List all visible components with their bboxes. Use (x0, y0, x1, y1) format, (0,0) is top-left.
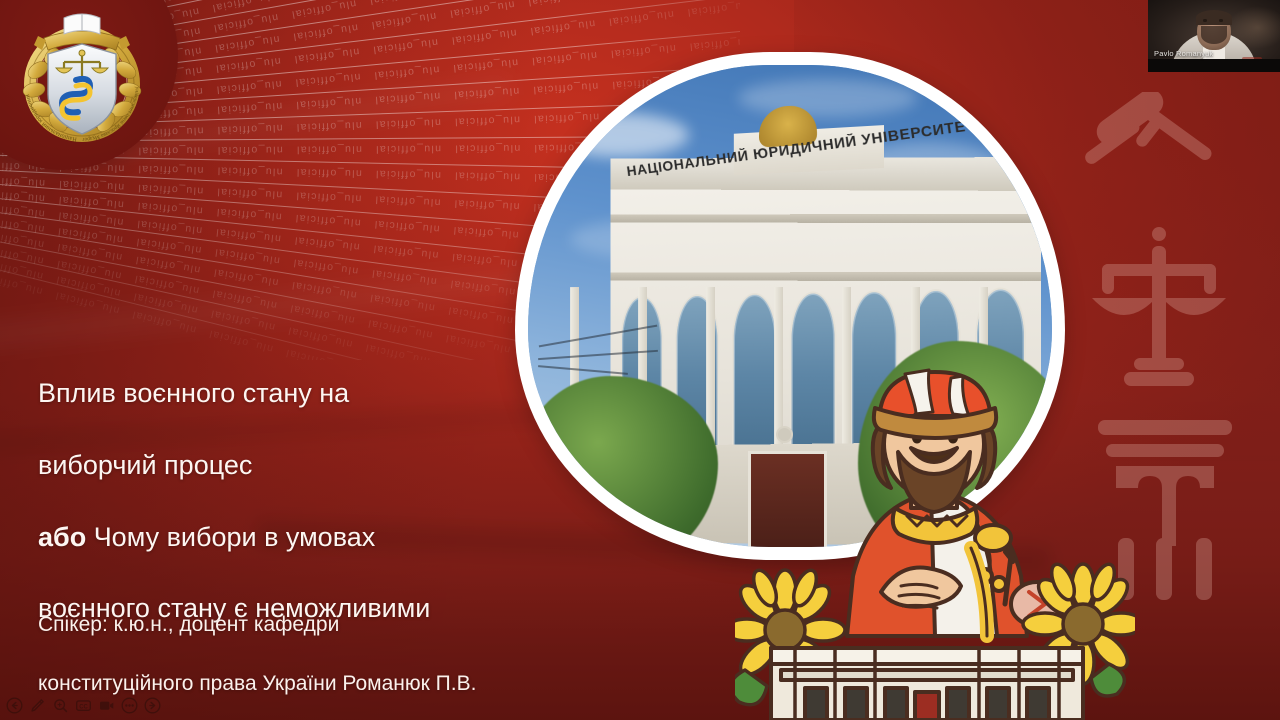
video-button[interactable] (98, 697, 115, 714)
webcam-video-tile[interactable]: Pavlo Romanyuk (1148, 0, 1280, 72)
title-line-1: Вплив воєнного стану на (38, 376, 558, 412)
captions-button[interactable]: CC (75, 697, 92, 714)
cornice (611, 272, 1042, 281)
title-line-2: виборчий процес (38, 448, 558, 484)
previous-slide-button[interactable] (6, 697, 23, 714)
title-line-3: або Чому вибори в умовах (38, 520, 558, 556)
pen-annotate-button[interactable] (29, 697, 46, 714)
zoom-button[interactable] (52, 697, 69, 714)
national-law-university-emblem: Національний юридичний університет імені… (8, 8, 156, 146)
title-emphasis: або (38, 522, 86, 552)
more-options-button[interactable] (121, 697, 138, 714)
participant-name-label: Pavlo Romanyuk (1154, 49, 1214, 58)
presentation-slide: nlu_official nlu_official nlu_official n… (0, 0, 1280, 720)
cloud (549, 113, 689, 157)
cornice (611, 214, 1042, 223)
title-line-3-rest: Чому вибори в умовах (86, 522, 375, 552)
participant-hair (1196, 10, 1232, 25)
gavel-icon (1078, 92, 1228, 222)
participant-beard (1201, 26, 1227, 44)
webcam-bottom-strip (1148, 59, 1280, 72)
presentation-toolbar[interactable]: CC (6, 697, 161, 714)
speaker-line-1: Спікер: к.ю.н., доцент кафедри (38, 610, 638, 640)
svg-text:CC: CC (79, 704, 88, 710)
next-slide-button[interactable] (144, 697, 161, 714)
speaker-line-2: конституційного права України Романюк П.… (38, 669, 638, 699)
prince-yaroslav-the-wise-illustration (735, 352, 1135, 720)
